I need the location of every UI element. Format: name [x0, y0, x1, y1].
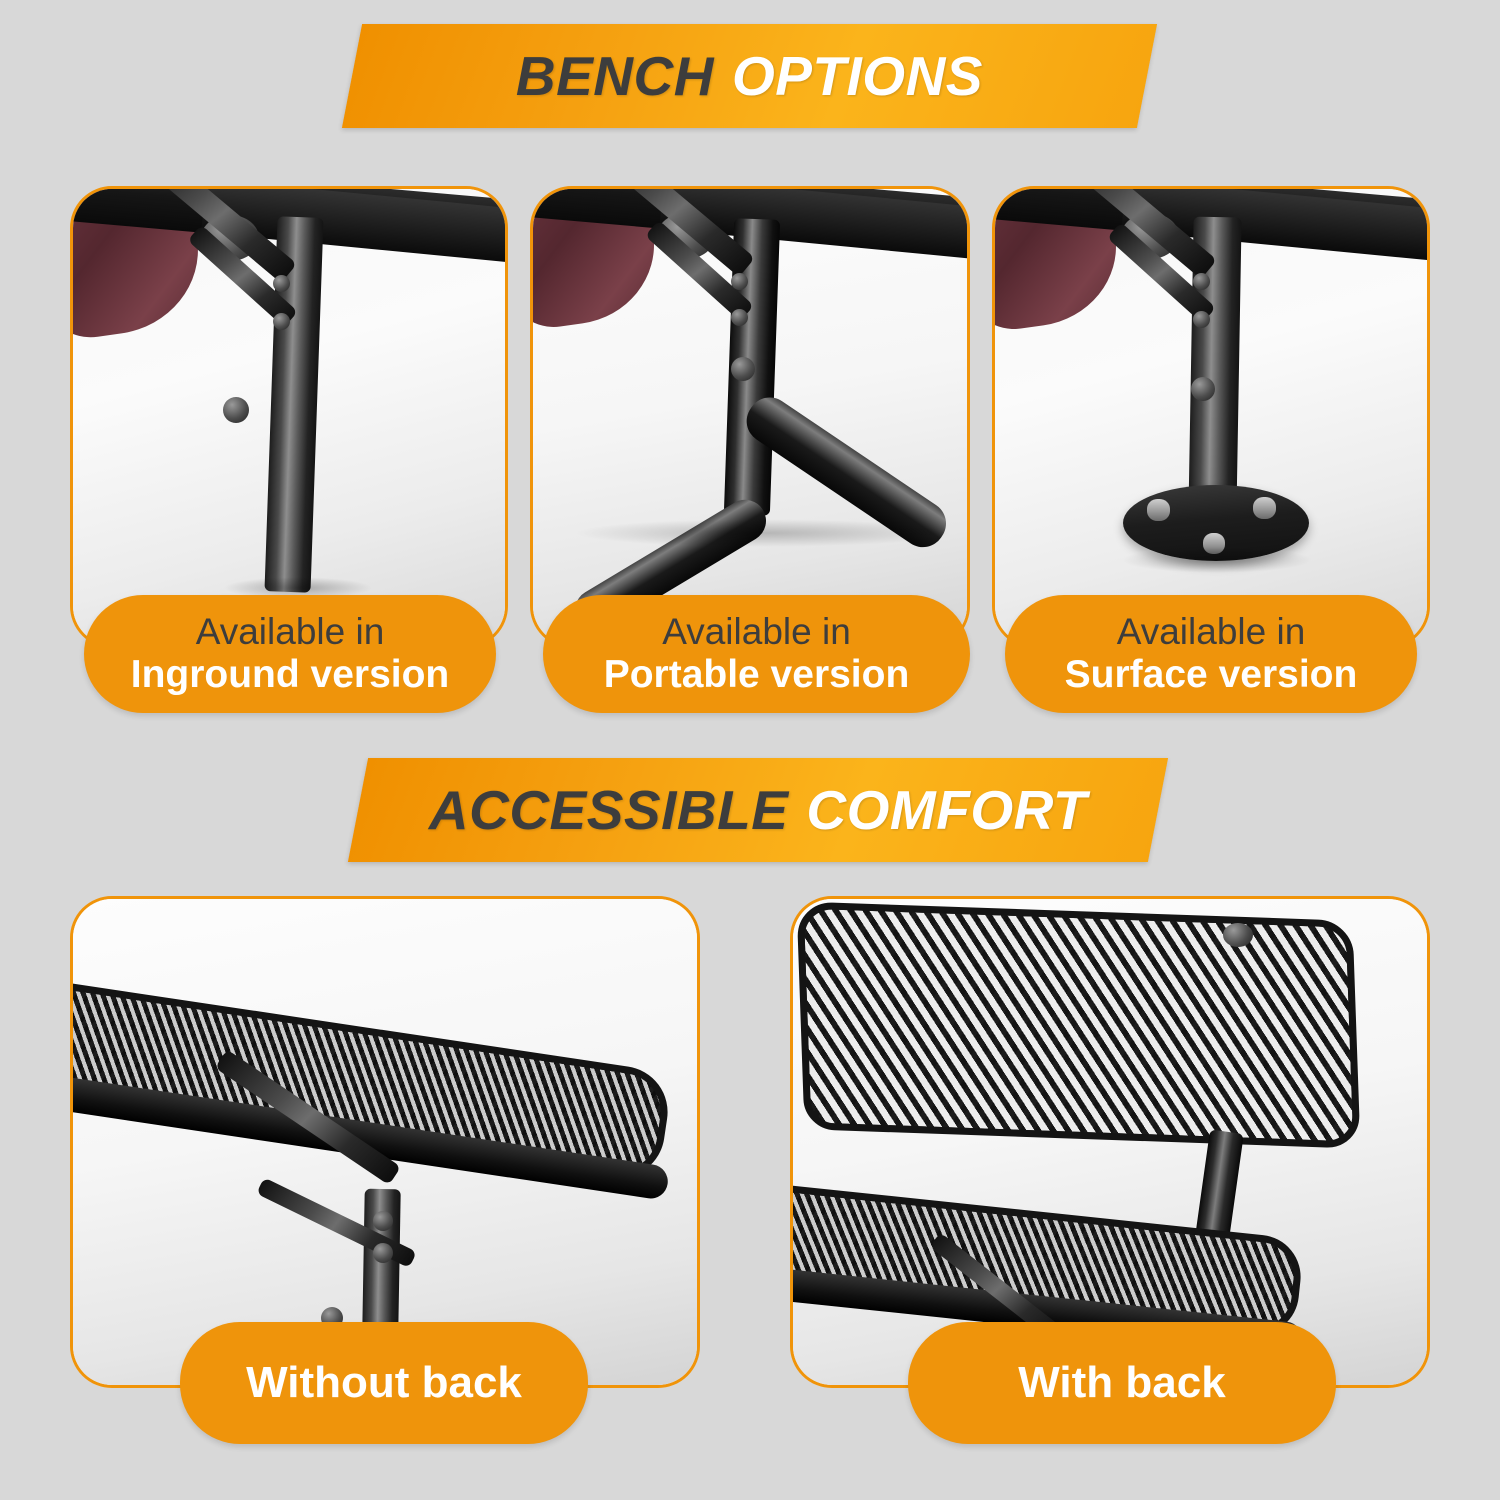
- backrest-post-cap-icon: [1223, 923, 1253, 947]
- base-tube-shadow: [573, 519, 953, 547]
- photo-surface-leg: [995, 189, 1427, 645]
- photo-inground-leg: [73, 189, 505, 645]
- banner-text: ACCESSIBLECOMFORT: [429, 783, 1087, 838]
- anchor-bolt-left-icon: [1147, 499, 1170, 521]
- pill-line-available-in: Available in: [662, 611, 851, 653]
- photo-bench-with-back: [793, 899, 1427, 1385]
- banner-word-dark: BENCH: [516, 45, 714, 107]
- brace-bolt-icon: [1191, 377, 1215, 401]
- pill-label-text: Without back: [246, 1361, 522, 1405]
- card-inground-version[interactable]: [70, 186, 508, 648]
- banner-word-light: OPTIONS: [732, 45, 983, 107]
- leg-bolt-lower-icon: [273, 313, 290, 330]
- card-bench-with-back[interactable]: [790, 896, 1430, 1388]
- section-heading-accessible-comfort: ACCESSIBLECOMFORT: [348, 758, 1168, 862]
- pill-line-version: Surface version: [1065, 653, 1358, 697]
- pill-line-available-in: Available in: [1117, 611, 1306, 653]
- infographic-page: BENCHOPTIONS Available in Inground: [0, 0, 1500, 1500]
- leg-bolt-lower-icon: [1193, 311, 1210, 328]
- card-surface-version[interactable]: [992, 186, 1430, 648]
- card-portable-version[interactable]: [530, 186, 970, 648]
- banner-text: BENCHOPTIONS: [516, 49, 983, 104]
- photo-portable-leg: [533, 189, 967, 645]
- label-pill-with-back: With back: [908, 1322, 1336, 1444]
- banner-word-light: COMFORT: [806, 779, 1087, 841]
- label-pill-without-back: Without back: [180, 1322, 588, 1444]
- pill-line-version: Portable version: [604, 653, 910, 697]
- label-pill-inground: Available in Inground version: [84, 595, 496, 713]
- leg-bolt-lower-icon: [731, 309, 748, 326]
- label-pill-surface: Available in Surface version: [1005, 595, 1417, 713]
- leg-bolt-upper-icon: [731, 273, 748, 290]
- banner-word-dark: ACCESSIBLE: [429, 779, 789, 841]
- brace-bolt-icon: [731, 357, 755, 381]
- plate-shadow: [1121, 547, 1313, 573]
- leg-bolt-upper-icon: [273, 275, 290, 292]
- pill-line-available-in: Available in: [196, 611, 385, 653]
- pill-label-text: With back: [1018, 1361, 1225, 1405]
- leg-bolt-upper-icon: [1193, 273, 1210, 290]
- bench-backrest-mesh-panel: [797, 901, 1361, 1148]
- section-heading-bench-options: BENCHOPTIONS: [342, 24, 1157, 128]
- label-pill-portable: Available in Portable version: [543, 595, 970, 713]
- pill-line-version: Inground version: [131, 653, 450, 697]
- card-bench-without-back[interactable]: [70, 896, 700, 1388]
- brace-bolt-icon: [223, 397, 249, 423]
- frame-bolt-upper-icon: [373, 1211, 393, 1231]
- frame-bolt-lower-icon: [373, 1243, 393, 1263]
- photo-bench-without-back: [73, 899, 697, 1385]
- anchor-bolt-right-icon: [1253, 497, 1276, 519]
